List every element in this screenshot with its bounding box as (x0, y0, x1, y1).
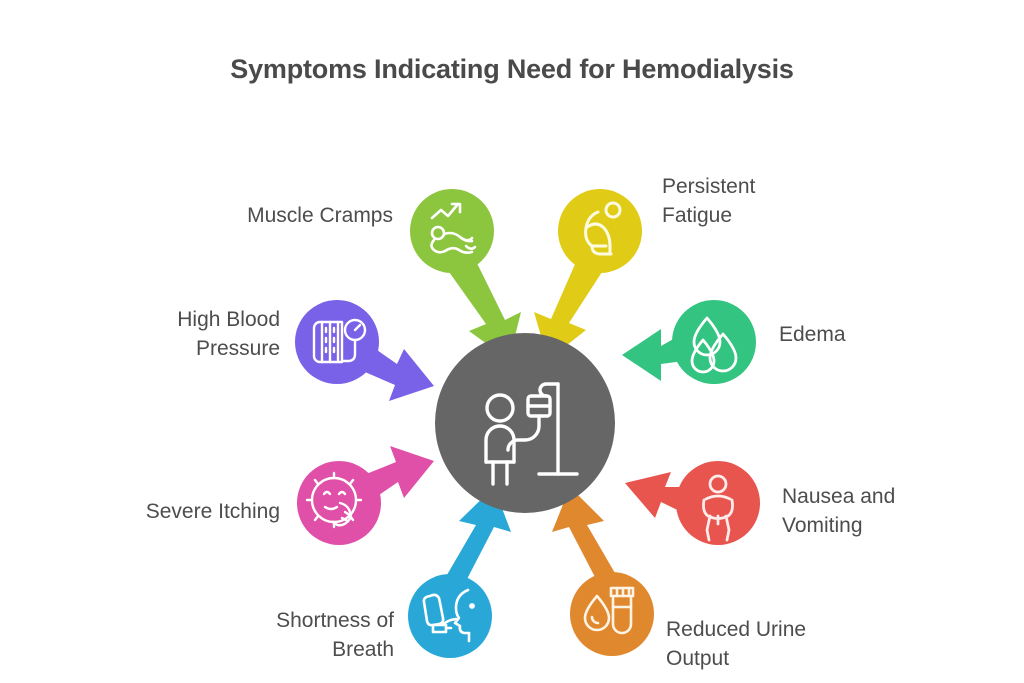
center-hub[interactable] (435, 333, 615, 513)
label-nausea-vomiting: Nausea and Vomiting (782, 482, 982, 540)
label-persistent-fatigue: Persistent Fatigue (662, 172, 862, 230)
node-shortness-of-breath[interactable] (408, 574, 492, 658)
label-reduced-urine-output: Reduced Urine Output (666, 615, 896, 673)
node-circle-nausea-vomiting (676, 461, 760, 545)
node-nausea-vomiting[interactable] (676, 461, 760, 545)
label-shortness-of-breath: Shortness of Breath (194, 606, 394, 664)
node-circle-edema (672, 300, 756, 384)
node-persistent-fatigue[interactable] (558, 189, 642, 273)
node-circle-muscle-cramps (410, 189, 494, 273)
node-edema[interactable] (672, 300, 756, 384)
node-severe-itching[interactable] (297, 461, 381, 545)
node-muscle-cramps[interactable] (410, 189, 494, 273)
node-circle-persistent-fatigue (558, 189, 642, 273)
node-high-blood-pressure[interactable] (295, 300, 379, 384)
node-circle-shortness-of-breath (408, 574, 492, 658)
label-high-blood-pressure: High Blood Pressure (82, 305, 280, 363)
node-reduced-urine-output[interactable] (570, 572, 654, 656)
label-edema: Edema (779, 320, 969, 349)
label-severe-itching: Severe Itching (100, 497, 280, 526)
center-hub-circle (435, 333, 615, 513)
infographic-canvas: Symptoms Indicating Need for Hemodialysi… (0, 0, 1024, 683)
label-muscle-cramps: Muscle Cramps (213, 201, 393, 230)
